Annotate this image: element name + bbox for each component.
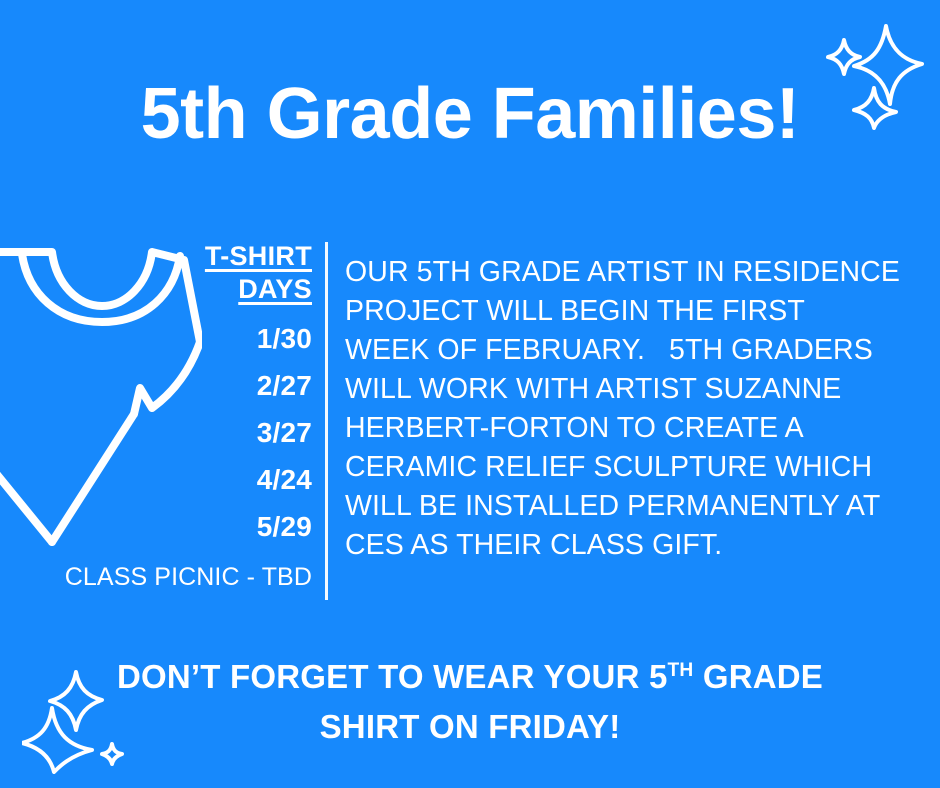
tshirt-days-heading-line1: T-SHIRT [40,240,312,273]
page-title: 5th Grade Families! [0,78,940,150]
body-line: WILL BE INSTALLED PERMANENTLY AT [345,487,905,526]
class-picnic-note: CLASS PICNIC - TBD [40,563,312,592]
list-item: 1/30 [40,325,312,353]
body-paragraph: OUR 5TH GRADE ARTIST IN RESIDENCE PROJEC… [345,253,905,565]
tshirt-days-heading-line2: DAYS [40,273,312,306]
body-line: PROJECT WILL BEGIN THE FIRST [345,292,905,331]
tshirt-days-heading: T-SHIRT DAYS [40,240,312,306]
body-line: WEEK OF FEBRUARY. 5TH GRADERS [345,331,905,370]
footer-line-1-after: GRADE [693,658,823,695]
footer-line-2: SHIRT ON FRIDAY! [70,702,870,752]
body-line: WILL WORK WITH ARTIST SUZANNE [345,370,905,409]
list-item: 5/29 [40,513,312,541]
tshirt-days-column: T-SHIRT DAYS 1/30 2/27 3/27 4/24 5/29 CL… [40,240,312,592]
body-line: OUR 5TH GRADE ARTIST IN RESIDENCE [345,253,905,292]
body-line: CES AS THEIR CLASS GIFT. [345,526,905,565]
body-line: CERAMIC RELIEF SCULPTURE WHICH [345,448,905,487]
flyer-poster: 5th Grade Families! [0,0,940,788]
footer-line-1: DON’T FORGET TO WEAR YOUR 5TH GRADE [70,652,870,702]
list-item: 2/27 [40,372,312,400]
footer-ordinal-suffix: TH [668,660,694,681]
body-line: HERBERT-FORTON TO CREATE A [345,409,905,448]
footer-line-1-before: DON’T FORGET TO WEAR YOUR 5 [117,658,668,695]
footer-callout: DON’T FORGET TO WEAR YOUR 5TH GRADE SHIR… [70,652,870,752]
list-item: 3/27 [40,419,312,447]
vertical-divider [325,242,328,600]
list-item: 4/24 [40,466,312,494]
